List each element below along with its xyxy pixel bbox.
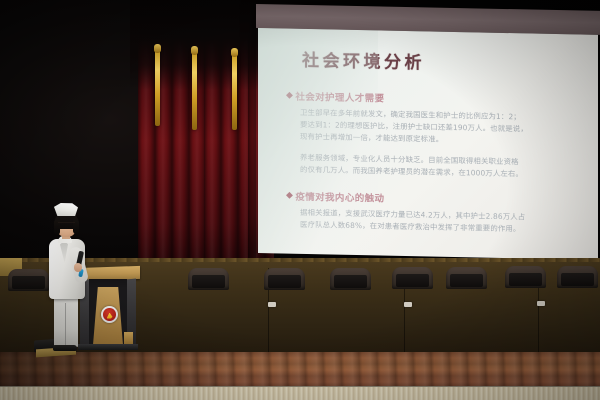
wall-plate [537,301,545,306]
tassel-knot [231,48,238,57]
body-paragraph: 据相关报道，支援武汉医疗力量已达4.2万人，其中护士2.86万人占 医疗队总人数… [300,207,586,237]
presentation-slide: 社会环境分析 ◆ 社会对护理人才需要 卫生部早在多年前就发文，确定我国医生和护士… [258,28,598,260]
body-paragraph: 养老服务领域，专业化人员十分缺乏。目前全国取得相关职业资格 的仅有几万人。而我国… [300,152,586,182]
tassel-knot [191,46,198,55]
section-heading: ◆ 疫情对我内心的触动 [286,189,586,209]
auditorium-seat [557,266,598,288]
wall-plate [268,302,276,307]
section-heading-label: 疫情对我内心的触动 [295,189,384,205]
speaker-leg-seam [65,303,66,347]
diamond-bullet-icon: ◆ [286,191,293,200]
nurse-cap-icon [54,203,78,216]
projection-screen: 社会环境分析 ◆ 社会对护理人才需要 卫生部早在多年前就发文，确定我国医生和护士… [256,4,600,267]
slide-title: 社会环境分析 [302,46,425,73]
diamond-bullet-icon: ◆ [286,91,293,100]
tassel-knot [154,44,161,53]
slide-section-epidemic-reflection: ◆ 疫情对我内心的触动 据相关报道，支援武汉医疗力量已达4.2万人，其中护士2.… [286,189,586,237]
speaker-glasses-icon [58,222,75,227]
screen-surface: 社会环境分析 ◆ 社会对护理人才需要 卫生部早在多年前就发文，确定我国医生和护士… [258,28,598,260]
stage-front-panel [0,386,600,400]
wall-plate [404,302,412,307]
speaker-hand [74,263,82,272]
gold-tassel-cord [232,52,237,130]
auditorium-seat [392,267,433,289]
institution-emblem-icon [101,306,118,323]
slide-section-social-demand: ◆ 社会对护理人才需要 卫生部早在多年前就发文，确定我国医生和护士的比例应为1：… [286,89,586,182]
emblem-mark-icon [107,313,113,319]
auditorium-seat [264,268,305,290]
auditorium-scene: 社会环境分析 ◆ 社会对护理人才需要 卫生部早在多年前就发文，确定我国医生和护士… [0,0,600,400]
section-heading-label: 社会对护理人才需要 [295,89,384,105]
nurse-speaker [45,203,91,353]
auditorium-seat [505,266,546,288]
gold-tassel-cord [192,50,197,130]
auditorium-seat [330,268,371,290]
auditorium-seat [8,269,49,291]
speaker-shoes [53,345,77,351]
section-heading: ◆ 社会对护理人才需要 [286,89,586,109]
auditorium-seat [188,268,229,290]
auditorium-seat [446,267,487,289]
gold-tassel-cord [155,48,160,126]
body-paragraph: 卫生部早在多年前就发文，确定我国医生和护士的比例应为1：2； 要达到1：2的理想… [300,107,586,149]
